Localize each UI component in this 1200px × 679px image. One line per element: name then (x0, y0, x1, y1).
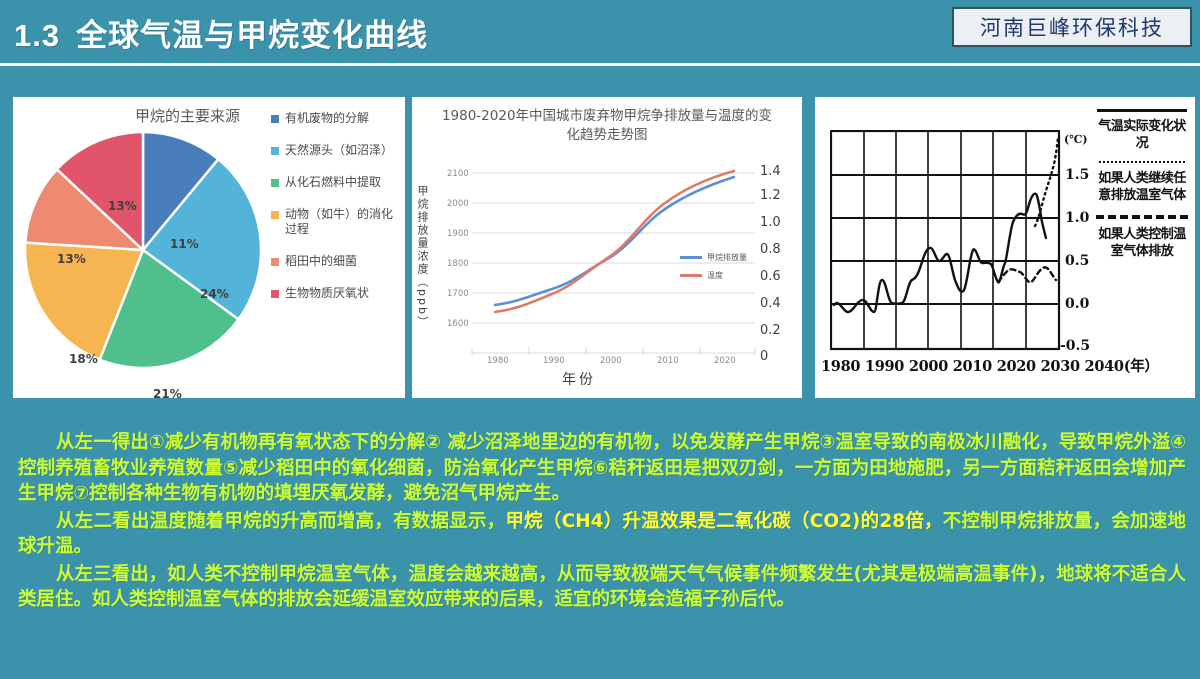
header-divider (0, 63, 1200, 66)
legend-item-label: 生物物质厌氧状 (285, 286, 369, 301)
pie-chart-title: 甲烷的主要来源 (135, 105, 240, 126)
y-axis-tick: -0.5 (1060, 338, 1090, 354)
body-text-block: 从左一得出①减少有机物再有氧状态下的分解② 减少沼泽地里边的有机物，以免发酵产生… (18, 430, 1186, 615)
y-axis-tick: 1.0 (1065, 210, 1089, 226)
x-axis-tick: 2020 (997, 358, 1036, 375)
legend-item: 如果人类继续任意排放温室气体 (1093, 161, 1191, 204)
legend-item-label: 天然源头（如沼泽） (285, 143, 393, 158)
pie-slice-label: 21% (153, 387, 182, 398)
legend-item: 温度 (680, 270, 747, 281)
x-axis-unit: (年） (1124, 358, 1159, 375)
y-axis-tick: 1.5 (1065, 167, 1089, 183)
page-title-text: 全球气温与甲烷变化曲线 (76, 18, 428, 53)
body-paragraph-2-highlight: 甲烷（CH4）升温效果是二氧化碳（CO2)的28倍， (505, 511, 942, 532)
legend-item-label: 甲烷排放量 (707, 252, 747, 263)
pie-slice-label: 18% (69, 352, 98, 366)
body-paragraph-2: 从左二看出温度随着甲烷的升高而增高，有数据显示，甲烷（CH4）升温效果是二氧化碳… (18, 509, 1186, 560)
pie-chart-legend: 有机废物的分解 天然源头（如沼泽） 从化石燃料中提取 动物（如牛）的消化过程 稻… (271, 111, 401, 318)
legend-swatch-icon (271, 179, 279, 187)
legend-item: 有机废物的分解 (271, 111, 401, 126)
legend-line-icon (680, 274, 702, 277)
legend-item-label: 稻田中的细菌 (285, 254, 357, 269)
chart-panel-pie: 甲烷的主要来源 11% 24% 21% 18% 13% 13% 有机废物的分解 … (13, 97, 405, 398)
legend-item-label: 动物（如牛）的消化过程 (285, 207, 401, 237)
x-axis-tick: 2000 (909, 358, 948, 375)
legend-dotted-line-icon (1099, 161, 1185, 163)
pie-slice-label: 13% (108, 199, 137, 213)
legend-item: 生物物质厌氧状 (271, 286, 401, 301)
line-chart-legend: 甲烷排放量 温度 (680, 252, 747, 288)
pie-slice-label: 24% (200, 287, 229, 301)
legend-item: 动物（如牛）的消化过程 (271, 207, 401, 237)
chart-panel-line: 1980-2020年中国城市废弃物甲烷争排放量与温度的变化趋势走势图 甲烷排放量… (412, 97, 802, 398)
y-axis-tick: 0.0 (1065, 296, 1089, 312)
temperature-chart-legend: 气温实际变化状况 如果人类继续任意排放温室气体 如果人类控制温室气体排放 (1093, 105, 1191, 262)
legend-item: 如果人类控制温室气体排放 (1093, 215, 1191, 260)
legend-item-label: 气温实际变化状况 (1093, 118, 1191, 152)
page-title: 1.3全球气温与甲烷变化曲线 (14, 10, 428, 55)
x-axis-tick: 2040 (1085, 358, 1124, 375)
pie-chart-graphic (23, 125, 263, 375)
pie-slice-label: 11% (170, 237, 199, 251)
x-axis-tick: 1990 (865, 358, 904, 375)
body-paragraph-1: 从左一得出①减少有机物再有氧状态下的分解② 减少沼泽地里边的有机物，以免发酵产生… (18, 430, 1186, 507)
legend-item-label: 如果人类继续任意排放温室气体 (1093, 170, 1191, 204)
legend-line-icon (680, 256, 702, 259)
legend-item: 从化石燃料中提取 (271, 175, 401, 190)
legend-item-label: 从化石燃料中提取 (285, 175, 381, 190)
legend-swatch-icon (271, 147, 279, 155)
legend-item-label: 温度 (707, 270, 723, 281)
legend-swatch-icon (271, 115, 279, 123)
pie-slice-label: 13% (57, 252, 86, 266)
body-paragraph-2-pre: 从左二看出温度随着甲烷的升高而增高，有数据显示， (56, 511, 505, 532)
legend-item: 气温实际变化状况 (1093, 109, 1191, 152)
page-title-number: 1.3 (14, 18, 60, 53)
legend-swatch-icon (271, 258, 279, 266)
x-axis-tick: 2030 (1041, 358, 1080, 375)
x-axis-tick: 1980 (821, 358, 860, 375)
temperature-chart-graphic (830, 130, 1070, 352)
chart-panel-temperature: (℃) 1.5 1.0 0.5 0.0 -0.5 1980 1990 2000 … (815, 97, 1195, 398)
body-paragraph-3: 从左三看出，如人类不控制甲烷温室气体，温度会越来越高，从而导致极端天气气候事件频… (18, 562, 1186, 613)
legend-item: 天然源头（如沼泽） (271, 143, 401, 158)
legend-swatch-icon (271, 211, 279, 219)
x-axis-tick: 2010 (953, 358, 992, 375)
company-logo: 河南巨峰环保科技 (952, 7, 1192, 47)
legend-solid-line-icon (1097, 109, 1187, 112)
temperature-x-axis: 1980 1990 2000 2010 2020 2030 2040(年） (821, 355, 1106, 376)
legend-item-label: 如果人类控制温室气体排放 (1093, 226, 1191, 260)
legend-item: 稻田中的细菌 (271, 254, 401, 269)
legend-item: 甲烷排放量 (680, 252, 747, 263)
company-logo-text: 河南巨峰环保科技 (980, 12, 1164, 42)
temperature-unit-label: (℃) (1064, 133, 1088, 146)
legend-swatch-icon (271, 290, 279, 298)
y-axis-tick: 0.5 (1065, 253, 1089, 269)
legend-item-label: 有机废物的分解 (285, 111, 369, 126)
line-chart-graphic (412, 97, 802, 398)
legend-dashed-line-icon (1096, 215, 1188, 219)
